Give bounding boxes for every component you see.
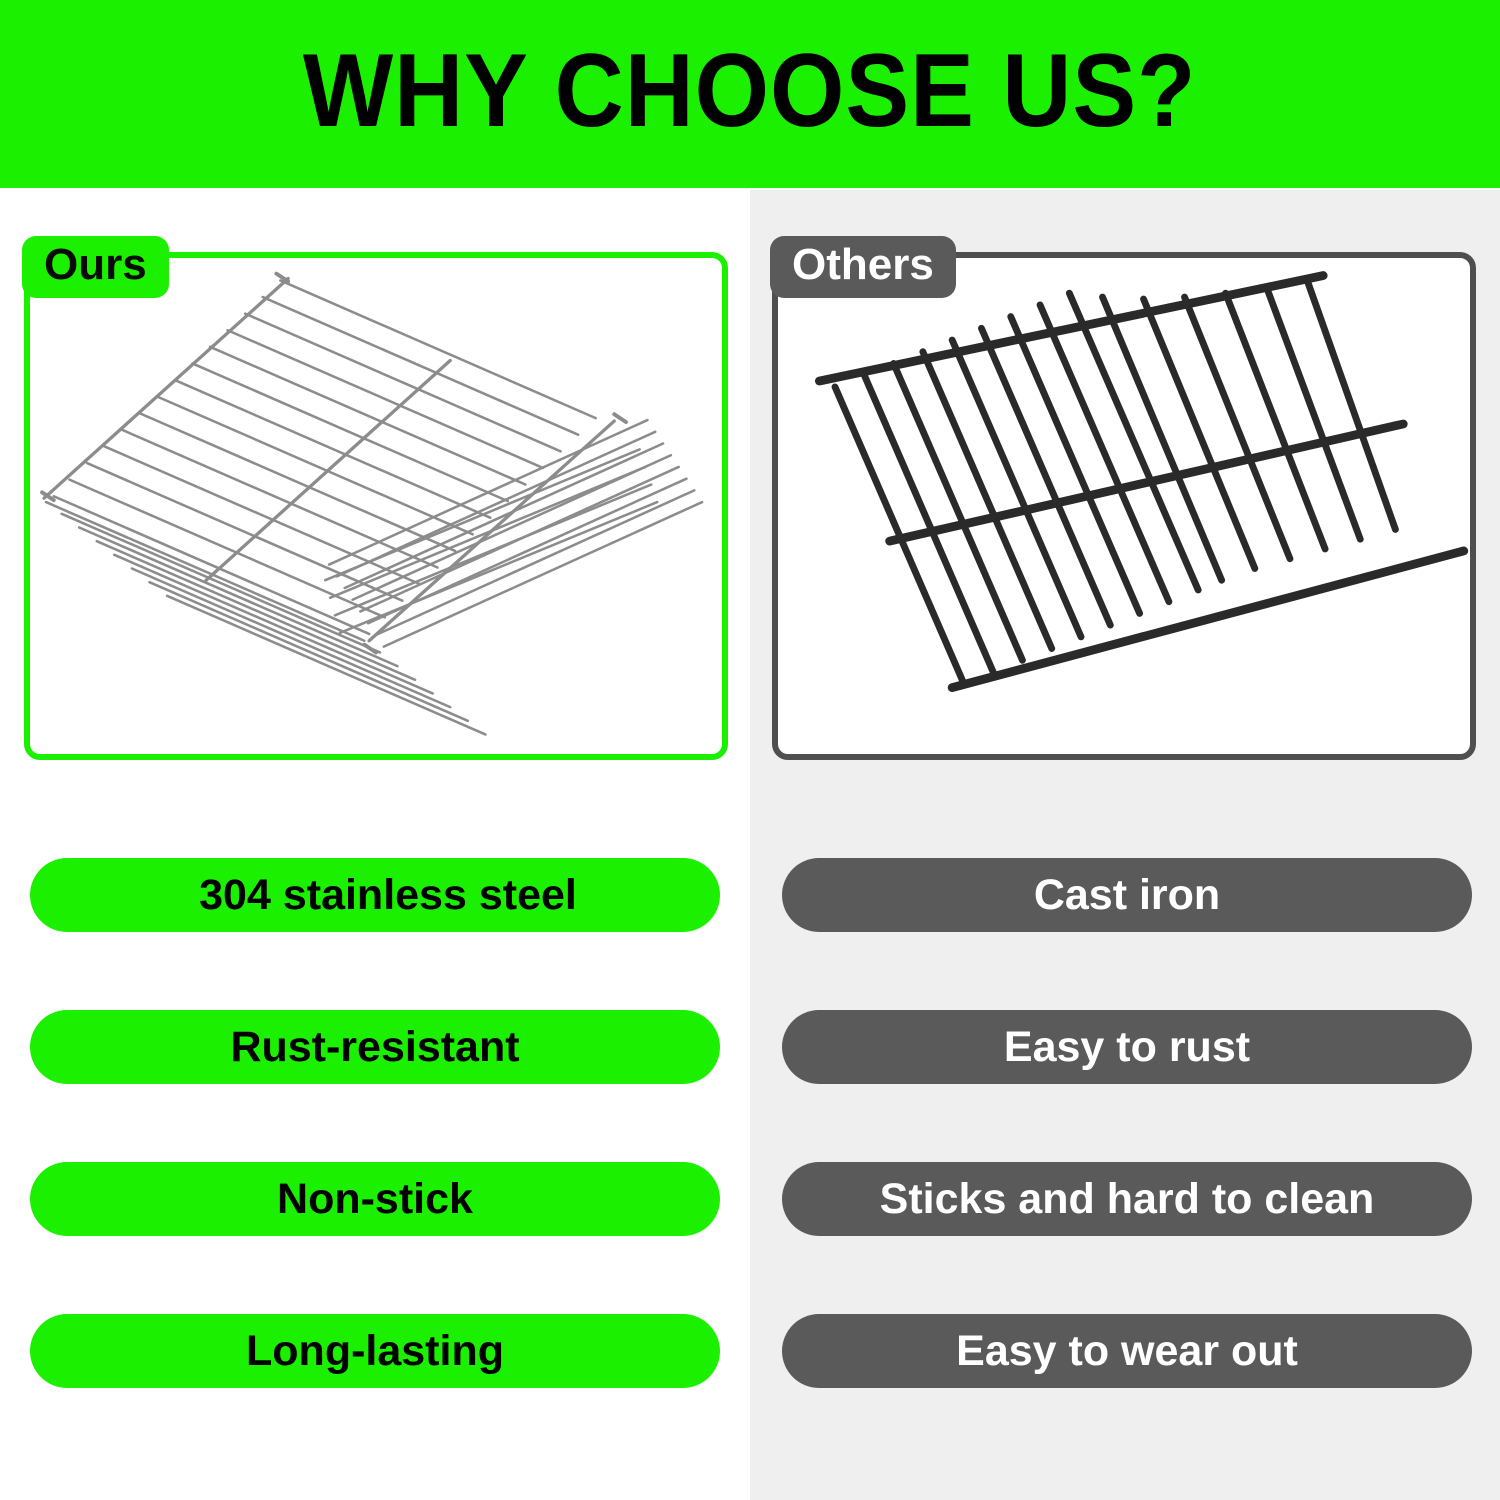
header-banner: WHY CHOOSE US? [0, 0, 1500, 188]
ours-feature-pill: Rust-resistant [30, 1010, 720, 1084]
others-feature-pill: Sticks and hard to clean [782, 1162, 1472, 1236]
comparison-infographic: WHY CHOOSE US? [0, 0, 1500, 1500]
others-feature-list: Cast iron Easy to rust Sticks and hard t… [782, 858, 1472, 1388]
ours-badge: Ours [22, 236, 169, 298]
ours-product-panel: Ours [24, 252, 728, 760]
ours-feature-list: 304 stainless steel Rust-resistant Non-s… [30, 858, 720, 1388]
ours-feature-pill: Long-lasting [30, 1314, 720, 1388]
others-feature-pill: Easy to rust [782, 1010, 1472, 1084]
ours-product-image [30, 258, 722, 754]
others-product-image [778, 258, 1470, 754]
ours-feature-pill: 304 stainless steel [30, 858, 720, 932]
others-product-panel: Others [772, 252, 1476, 760]
others-feature-pill: Cast iron [782, 858, 1472, 932]
ours-feature-pill: Non-stick [30, 1162, 720, 1236]
stainless-steel-grill-grate-illustration [30, 258, 722, 754]
page-title: WHY CHOOSE US? [303, 39, 1197, 143]
others-feature-pill: Easy to wear out [782, 1314, 1472, 1388]
others-badge: Others [770, 236, 956, 298]
cast-iron-grill-grate-illustration [778, 258, 1470, 754]
